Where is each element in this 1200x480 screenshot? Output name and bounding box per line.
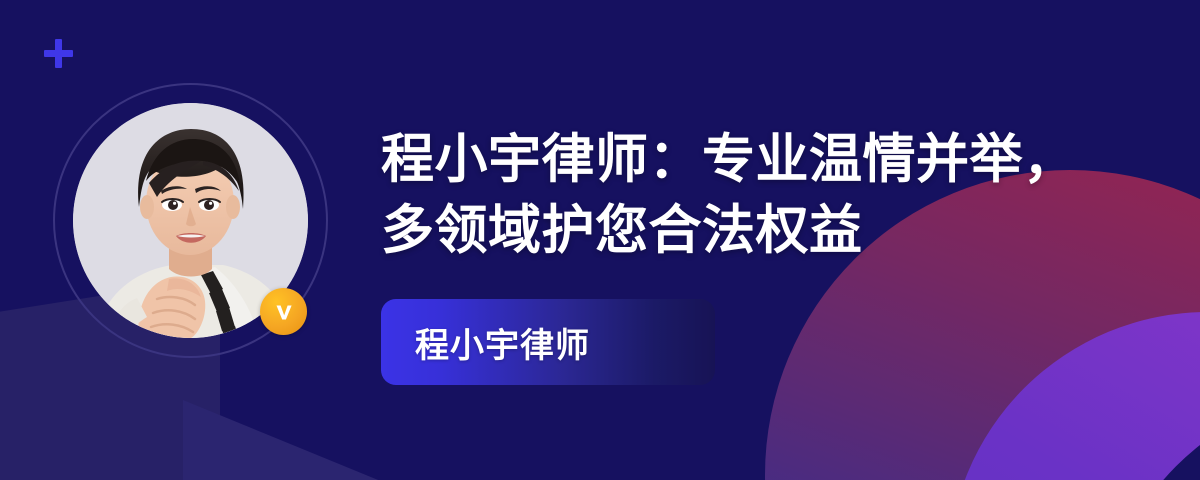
lawyer-name-button[interactable]: 程小宇律师 xyxy=(381,299,715,385)
avatar xyxy=(53,83,328,358)
plus-icon xyxy=(44,39,73,68)
lawyer-profile-banner: 程小宇律师：专业温情并举， 多领域护您合法权益 程小宇律师 xyxy=(0,0,1200,480)
decorative-triangle-wedge xyxy=(183,400,383,480)
page-title: 程小宇律师：专业温情并举， 多领域护您合法权益 xyxy=(381,124,1081,266)
headline-block: 程小宇律师：专业温情并举， 多领域护您合法权益 xyxy=(381,124,1081,266)
verified-badge-icon xyxy=(260,288,307,335)
